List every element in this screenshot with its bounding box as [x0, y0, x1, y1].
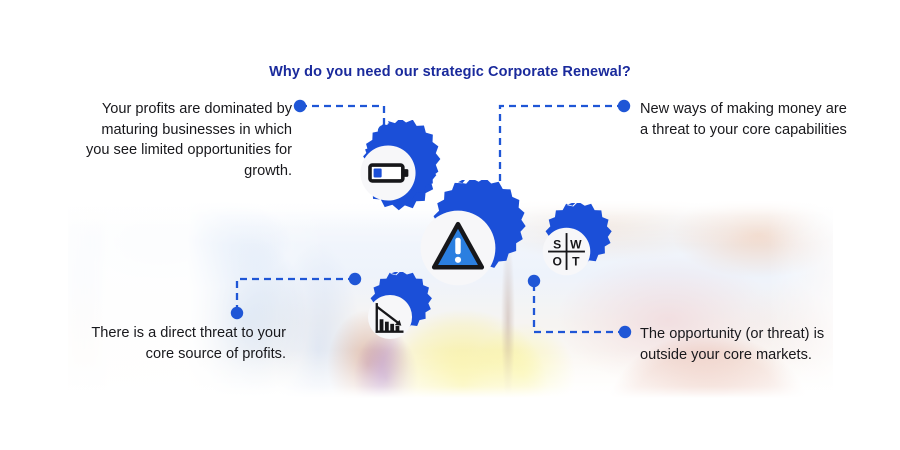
swot-gear: S W O T — [518, 203, 615, 300]
low-battery-icon — [370, 165, 408, 181]
swot-letter-w: W — [570, 237, 582, 251]
connector-dot-top-left-text — [294, 100, 306, 112]
infographic-canvas: Why do you need our strategic Corporate … — [0, 0, 900, 450]
callout-top-left: Your profits are dominated by maturing b… — [74, 99, 292, 182]
swot-letter-t: T — [572, 254, 580, 268]
callout-top-right: New ways of making money are a threat to… — [640, 99, 850, 140]
callout-bottom-left: There is a direct threat to your core so… — [62, 323, 286, 364]
chart-gear — [345, 272, 435, 362]
swot-letter-o: O — [552, 254, 561, 268]
callout-bottom-right: The opportunity (or threat) is outside y… — [640, 324, 846, 365]
page-title: Why do you need our strategic Corporate … — [0, 64, 900, 80]
swot-letter-s: S — [553, 237, 561, 251]
connector-dot-top-right-text — [618, 100, 630, 112]
swot-grid-icon: S W O T — [548, 233, 585, 270]
